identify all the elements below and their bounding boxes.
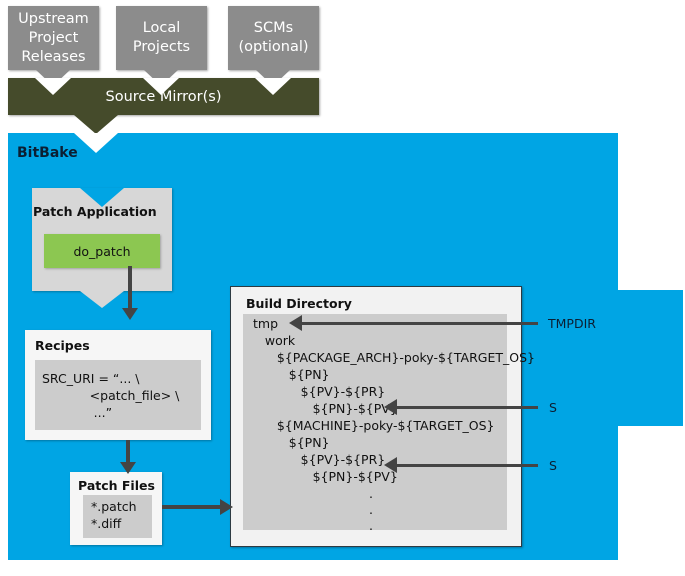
mirror-notch-upstream-icon xyxy=(35,78,71,95)
build-dir-tree-line-pn-1: ${PN} xyxy=(253,367,330,384)
callout-s-second-head-icon xyxy=(384,457,397,473)
patch-files-item-patch: *.patch xyxy=(91,498,137,515)
source-mirror-tab-icon xyxy=(74,115,118,134)
build-dir-tree-line-pn-pv-2: ${PN}-${PV} xyxy=(253,469,398,486)
arrow-recipes-to-patch-files-shaft xyxy=(126,440,130,464)
build-dir-tree-line-pn-pv-1: ${PN}-${PV} xyxy=(253,401,398,418)
patch-application-tab-icon xyxy=(80,291,124,308)
arrow-do-patch-to-recipes-shaft xyxy=(128,266,132,310)
bitbake-region-spur xyxy=(612,290,683,426)
recipes-src-uri-line-2: <patch_file> \ xyxy=(42,387,179,404)
source-box-scms: SCMs (optional) xyxy=(228,6,319,70)
source-box-scms-line-1: SCMs xyxy=(238,19,308,38)
callout-s-second-label: S xyxy=(549,458,557,473)
recipes-title: Recipes xyxy=(35,338,90,353)
arrow-recipes-to-patch-files-head-icon xyxy=(120,462,136,474)
build-dir-ellipsis-dot-1: . xyxy=(366,486,376,502)
build-dir-ellipsis-dot-3: . xyxy=(366,518,376,534)
build-dir-tree-line-pv-pr-2: ${PV}-${PR} xyxy=(253,452,385,469)
recipes-src-uri-line-1: SRC_URI = “... \ xyxy=(42,370,140,387)
arrow-do-patch-to-recipes-head-icon xyxy=(122,308,138,320)
callout-tmpdir-shaft xyxy=(300,322,538,325)
build-dir-tree-line-tmp: tmp xyxy=(253,316,278,333)
source-box-upstream-line-2: Project xyxy=(18,29,89,48)
build-dir-tree-line-pv-pr-1: ${PV}-${PR} xyxy=(253,384,385,401)
source-box-upstream-line-3: Releases xyxy=(18,48,89,67)
callout-tmpdir-label: TMPDIR xyxy=(548,316,596,331)
mirror-notch-scms-icon xyxy=(255,78,291,95)
bitbake-label: BitBake xyxy=(17,145,78,161)
arrow-patch-files-to-build-dir-shaft xyxy=(162,505,224,509)
patch-files-title: Patch Files xyxy=(78,478,155,493)
source-box-local: Local Projects xyxy=(116,6,207,70)
patch-files-item-diff: *.diff xyxy=(91,515,121,532)
callout-s-first-head-icon xyxy=(384,399,397,415)
build-dir-tree-line-work: work xyxy=(253,333,295,350)
source-box-upstream-line-1: Upstream xyxy=(18,10,89,29)
build-dir-tree-line-package-arch: ${PACKAGE_ARCH}-poky-${TARGET_OS} xyxy=(253,350,535,367)
build-directory-title: Build Directory xyxy=(246,296,352,311)
build-dir-tree-line-machine: ${MACHINE}-poky-${TARGET_OS} xyxy=(253,418,494,435)
diagram-canvas: Upstream Project Releases Local Projects… xyxy=(0,0,685,576)
patch-application-title: Patch Application xyxy=(33,204,157,219)
build-dir-tree-line-pn-2: ${PN} xyxy=(253,435,330,452)
bitbake-top-notch-icon xyxy=(74,133,118,153)
source-box-upstream: Upstream Project Releases xyxy=(8,6,99,70)
source-box-local-line-1: Local xyxy=(133,19,190,38)
callout-s-first-label: S xyxy=(549,400,557,415)
recipes-src-uri-line-3: ...” xyxy=(42,404,112,421)
callout-tmpdir-head-icon xyxy=(289,315,302,331)
callout-s-second-shaft xyxy=(395,464,538,467)
build-dir-ellipsis-dot-2: . xyxy=(366,502,376,518)
do-patch-task[interactable]: do_patch xyxy=(44,234,160,268)
source-box-local-line-2: Projects xyxy=(133,38,190,57)
arrow-patch-files-to-build-dir-head-icon xyxy=(220,499,233,515)
source-box-scms-line-2: (optional) xyxy=(238,38,308,57)
callout-s-first-shaft xyxy=(395,406,538,409)
mirror-notch-local-icon xyxy=(143,78,179,95)
do-patch-task-label: do_patch xyxy=(73,244,130,259)
